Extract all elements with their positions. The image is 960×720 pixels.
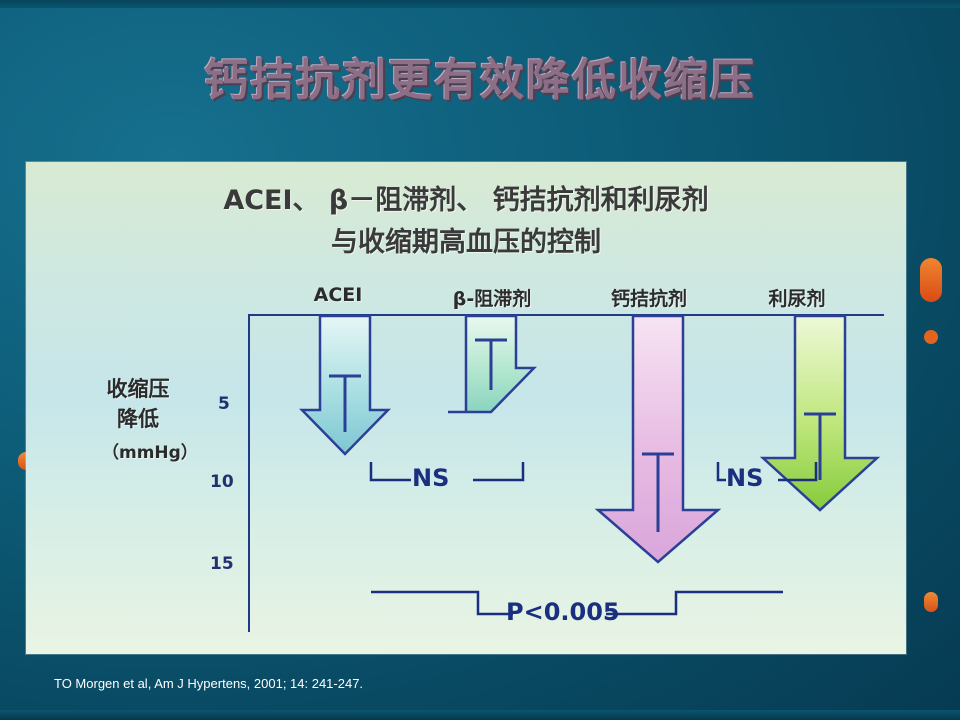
decorative-dot-2 [924, 330, 938, 344]
citation-text: TO Morgen et al, Am J Hypertens, 2001; 1… [54, 676, 363, 691]
decorative-dot-3 [924, 592, 938, 612]
bar-ccb [598, 316, 718, 562]
bar-beta-blocker [448, 316, 534, 412]
bars-svg [26, 162, 906, 654]
slide-title: 钙拮抗剂更有效降低收缩压 [0, 44, 960, 108]
bar-acei [302, 316, 388, 454]
chart-figure: ACEI、 β－阻滞剂、 钙拮抗剂和利尿剂 与收缩期高血压的控制 ACEI β-… [26, 162, 906, 654]
annotation-pvalue: P<0.005 [506, 598, 620, 626]
annotation-ns-left: NS [412, 464, 449, 492]
decorative-dot-1 [920, 258, 942, 302]
slide-canvas: 钙拮抗剂更有效降低收缩压 ACEI、 β－阻滞剂、 钙拮抗剂和利尿剂 与收缩期高… [0, 0, 960, 720]
annotation-ns-right: NS [726, 464, 763, 492]
